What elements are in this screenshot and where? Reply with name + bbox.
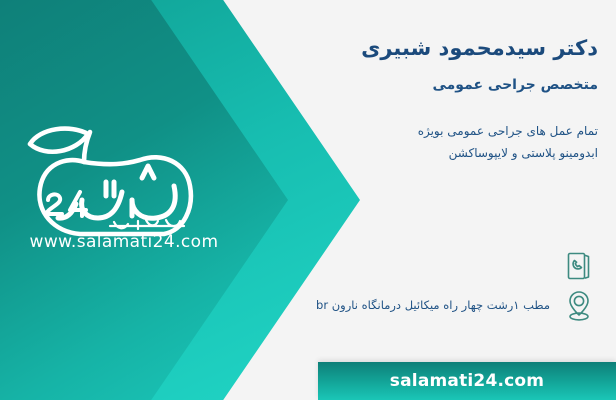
footer-website-bar[interactable]: salamati24.com	[318, 362, 616, 400]
phone-number-text	[238, 259, 550, 273]
footer-website-text: salamati24.com	[390, 371, 544, 391]
doctor-specialty: متخصص جراحی عمومی	[258, 76, 598, 96]
business-card: www.salamati24.com دکتر سیدمحمود شبیری م…	[0, 0, 616, 400]
address-text: مطب ١رشت چهار راه میکائیل درمانگاه نارون…	[238, 297, 550, 314]
phone-book-icon	[560, 246, 598, 286]
apple-outline-icon	[14, 112, 234, 237]
contact-row-phone[interactable]	[238, 246, 598, 286]
services-description: تمام عمل های جراحی عمومی بویژه ابدومینو …	[258, 120, 598, 164]
logo-url-text: www.salamati24.com	[14, 232, 234, 252]
contact-info: مطب ١رشت چهار راه میکائیل درمانگاه نارون…	[238, 246, 598, 326]
brand-logo: www.salamati24.com	[14, 112, 234, 272]
services-line-1: تمام عمل های جراحی عمومی بویژه	[418, 124, 598, 138]
contact-row-address[interactable]: مطب ١رشت چهار راه میکائیل درمانگاه نارون…	[238, 286, 598, 326]
services-line-2: ابدومینو پلاستی و لایپوساکشن	[449, 146, 598, 160]
location-pin-icon	[560, 286, 598, 326]
doctor-name: دکتر سیدمحمود شبیری	[258, 34, 598, 62]
card-content: دکتر سیدمحمود شبیری متخصص جراحی عمومی تم…	[258, 34, 598, 164]
